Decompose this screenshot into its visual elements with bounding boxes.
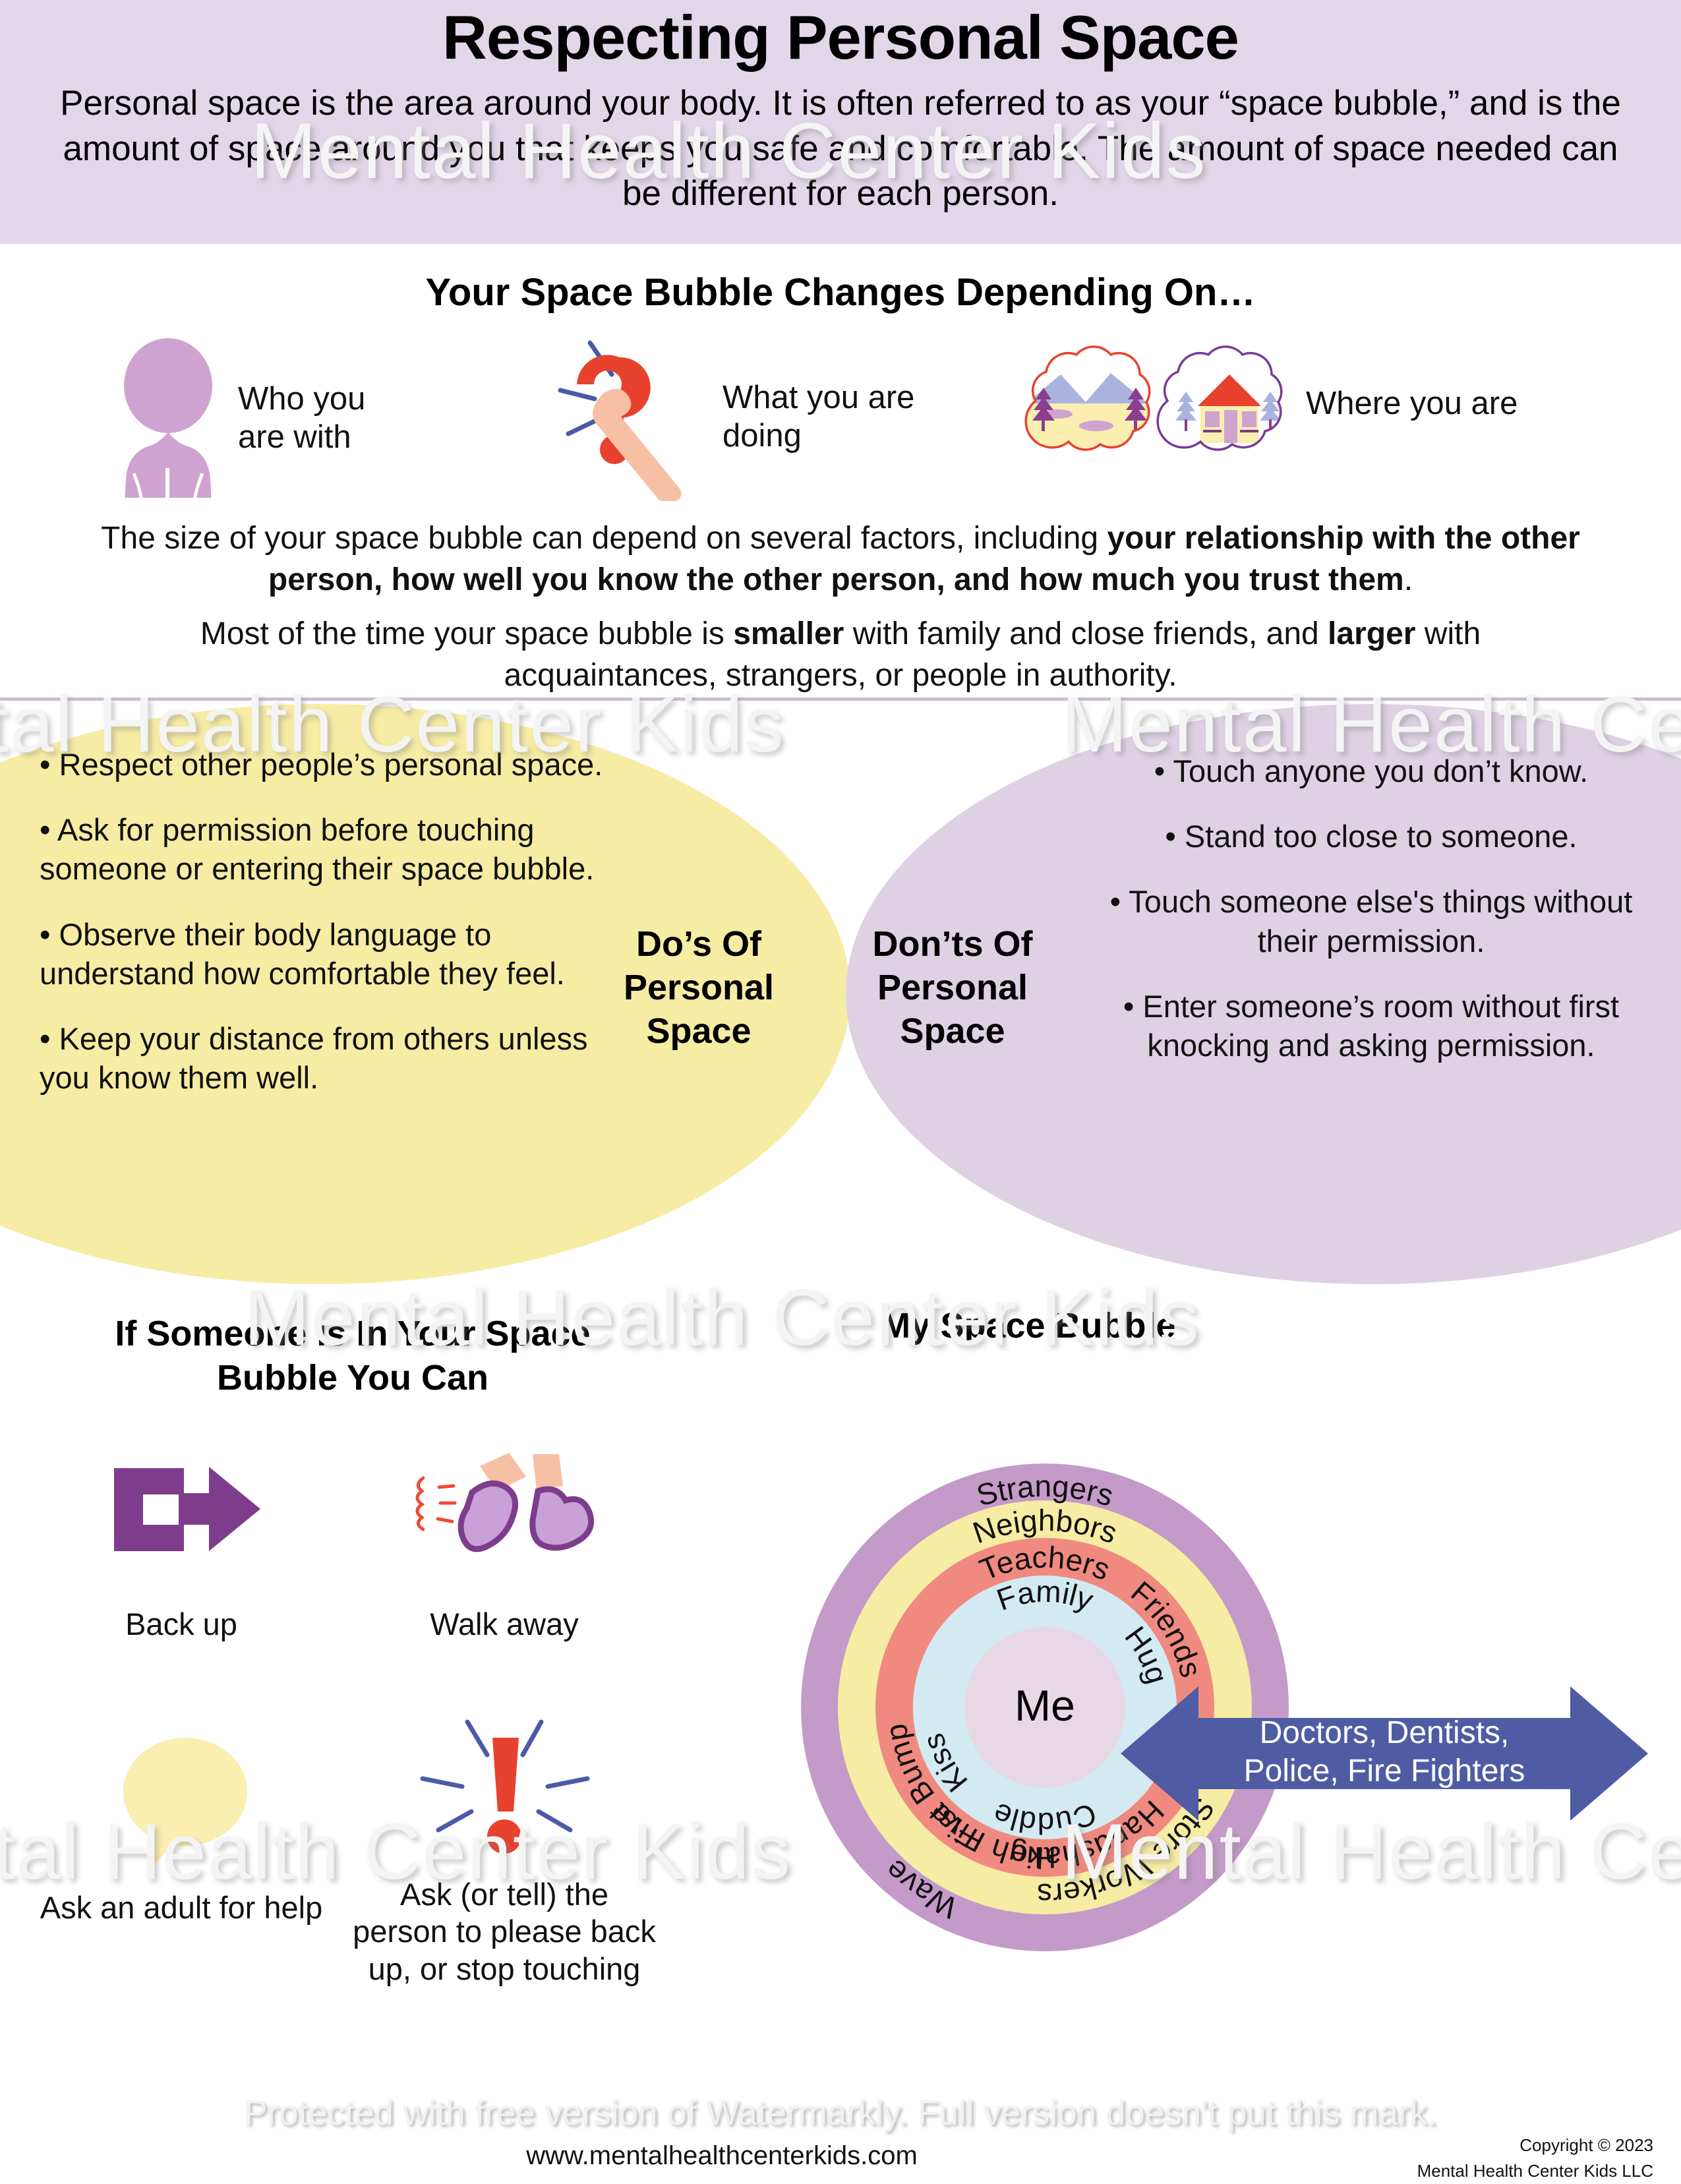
- header-description: Personal space is the area around your b…: [40, 81, 1641, 218]
- donts-heading: Don’ts Of Personal Space: [857, 923, 1048, 1053]
- action-label: Ask an adult for help: [26, 1889, 336, 1926]
- action-label: Walk away: [349, 1606, 659, 1643]
- watermark-notice: Protected with free version of Watermark…: [0, 2093, 1681, 2133]
- depends-items-row: Who you are with What you are doing: [0, 323, 1681, 488]
- dos-item: • Keep your distance from others unless …: [40, 1019, 646, 1097]
- action-ask-person-to-back-up: Ask (or tell) the person to please back …: [349, 1714, 659, 1988]
- hand-question-mark-icon: [554, 330, 705, 504]
- depends-item-what-you-are-doing: What you are doing: [554, 330, 914, 504]
- action-label: Back up: [26, 1606, 336, 1643]
- donts-item: • Touch anyone you don’t know.: [1081, 752, 1661, 790]
- bubble-center-label: Me: [1015, 1681, 1075, 1730]
- exclamation-mark-icon: [412, 1714, 597, 1866]
- depends-label-what: What you are doing: [723, 379, 914, 456]
- arrow-label-line2: Police, Fire Fighters: [1244, 1754, 1525, 1788]
- depends-label-who: Who you are with: [238, 380, 365, 457]
- donts-list: • Touch anyone you don’t know. • Stand t…: [1081, 752, 1661, 1091]
- depends-item-who-you-are-with: Who you are with: [115, 336, 365, 501]
- back-up-arrow-icon: [96, 1444, 267, 1595]
- arrow-label-line1: Doctors, Dentists,: [1260, 1715, 1510, 1750]
- action-back-up: Back up: [26, 1444, 336, 1643]
- factor-paragraph-1: The size of your space bubble can depend…: [40, 517, 1641, 601]
- action-ask-adult: Ask an adult for help: [26, 1727, 336, 1926]
- donts-item: • Enter someone’s room without first kno…: [1081, 987, 1661, 1065]
- copyright-notice: Copyright © 2023 Mental Health Center Ki…: [1231, 2133, 1653, 2184]
- action-label: Ask (or tell) the person to please back …: [349, 1876, 659, 1988]
- depends-item-where-you-are: Where you are: [1012, 336, 1518, 471]
- donts-item: • Stand too close to someone.: [1081, 817, 1661, 856]
- bubble-diagram-title: My Space Bubble: [765, 1305, 1292, 1346]
- depends-section-title: Your Space Bubble Changes Depending On…: [0, 270, 1681, 314]
- factor-paragraph-2: Most of the time your space bubble is sm…: [92, 613, 1589, 697]
- dos-list: • Respect other people’s personal space.…: [40, 745, 646, 1124]
- dos-item: • Observe their body language to underst…: [40, 915, 646, 993]
- donts-item: • Touch someone else's things without th…: [1081, 882, 1661, 960]
- page-header: Respecting Personal Space Personal space…: [0, 0, 1681, 244]
- authority-figures-arrow: Doctors, Dentists, Police, Fire Fighters: [1121, 1674, 1648, 1833]
- depends-label-where: Where you are: [1306, 385, 1518, 423]
- walking-feet-icon: [409, 1444, 600, 1595]
- actions-section-title: If Someone Is In Your Space Bubble You C…: [66, 1312, 639, 1400]
- person-silhouette-icon: [115, 336, 221, 501]
- dos-item: • Respect other people’s personal space.: [40, 745, 646, 784]
- speech-bubble-icon: [102, 1727, 260, 1879]
- website-url[interactable]: www.mentalhealthcenterkids.com: [0, 2141, 1444, 2171]
- venn-top-divider: [0, 697, 1681, 701]
- dos-item: • Ask for permission before touching som…: [40, 810, 646, 888]
- action-walk-away: Walk away: [349, 1444, 659, 1643]
- page-title: Respecting Personal Space: [442, 5, 1239, 71]
- location-thought-clouds-icon: [1012, 336, 1289, 471]
